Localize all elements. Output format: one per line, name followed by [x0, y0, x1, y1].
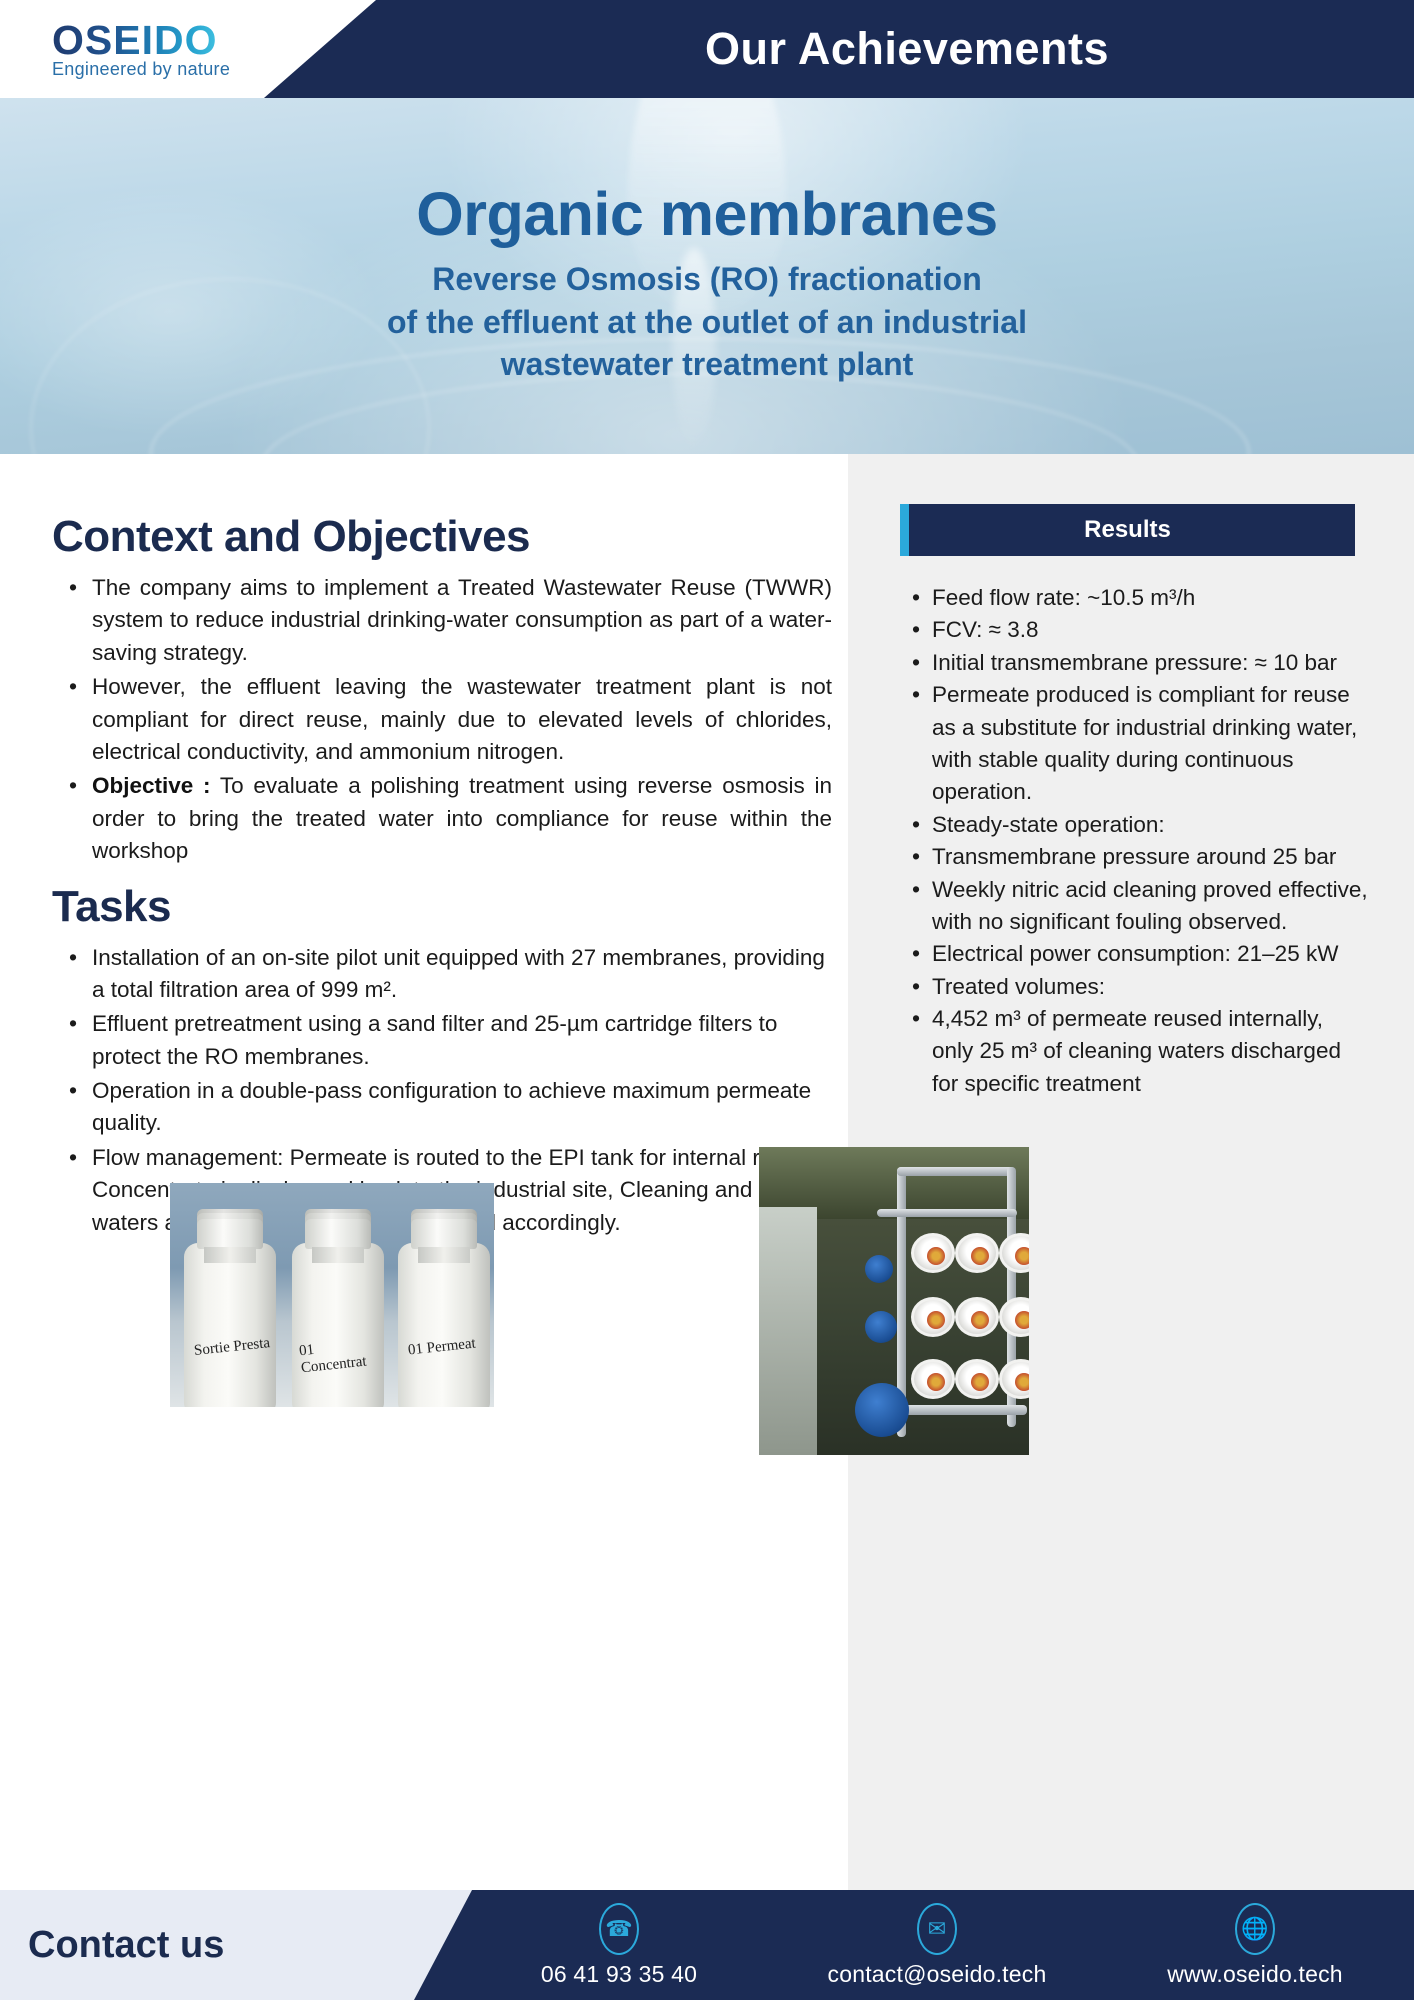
- results-accent-bar: [900, 504, 909, 556]
- membrane-vessel: [955, 1297, 999, 1337]
- contact-list: ☎ 06 41 93 35 40 ✉ contact@oseido.tech 🌐…: [460, 1890, 1414, 2000]
- contact-phone[interactable]: ☎ 06 41 93 35 40: [460, 1890, 778, 2000]
- contact-email[interactable]: ✉ contact@oseido.tech: [778, 1890, 1096, 2000]
- feed-pump: [855, 1383, 909, 1437]
- list-item: However, the effluent leaving the wastew…: [52, 671, 832, 768]
- membrane-vessel: [955, 1233, 999, 1273]
- content-area: Context and Objectives The company aims …: [0, 454, 1414, 1890]
- objective-label: Objective :: [92, 773, 211, 798]
- membrane-vessel: [999, 1233, 1029, 1273]
- membrane-vessel: [999, 1359, 1029, 1399]
- website-url: www.oseido.tech: [1167, 1961, 1343, 1988]
- membrane-vessel: [999, 1297, 1029, 1337]
- list-item: Installation of an on-site pilot unit eq…: [52, 942, 832, 1007]
- wall-decor: [759, 1207, 817, 1455]
- hero-subtitle-line-1: Reverse Osmosis (RO) fractionation: [387, 258, 1027, 301]
- bottle-neck: [418, 1247, 470, 1263]
- sample-bottles-photo: Sortie Presta 01 Concentrat 01 Permeat: [170, 1183, 494, 1407]
- context-heading: Context and Objectives: [52, 512, 832, 562]
- membrane-vessel: [955, 1359, 999, 1399]
- list-item: Operation in a double-pass configuration…: [52, 1075, 832, 1140]
- phone-icon: ☎: [599, 1903, 639, 1955]
- page-footer: Contact us ☎ 06 41 93 35 40 ✉ contact@os…: [0, 1890, 1414, 2000]
- list-item: 4,452 m³ of permeate reused internally, …: [900, 1003, 1370, 1100]
- footer-title: Contact us: [28, 1890, 224, 2000]
- email-address: contact@oseido.tech: [828, 1961, 1047, 1988]
- bottle-3: 01 Permeat: [398, 1243, 490, 1407]
- logo-wordmark: OSEIDO: [52, 20, 217, 61]
- right-column: Results Feed flow rate: ~10.5 m³/h FCV: …: [900, 454, 1370, 1100]
- hero-title: Organic membranes: [416, 182, 997, 246]
- context-bullet-list: The company aims to implement a Treated …: [52, 572, 832, 868]
- bottle-neck: [312, 1247, 364, 1263]
- list-item: Steady-state operation:: [900, 809, 1370, 841]
- results-heading: Results: [1084, 516, 1171, 544]
- bottle-1: Sortie Presta: [184, 1243, 276, 1407]
- phone-number: 06 41 93 35 40: [541, 1961, 697, 1988]
- bottle-cap: [197, 1209, 263, 1249]
- header-title: Our Achievements: [400, 0, 1414, 98]
- pipe-decor: [877, 1209, 1017, 1217]
- bottle-cap: [305, 1209, 371, 1249]
- list-item: Objective : To evaluate a polishing trea…: [52, 770, 832, 867]
- bottle-neck: [204, 1247, 256, 1263]
- list-item: Electrical power consumption: 21–25 kW: [900, 938, 1370, 970]
- bottle-label-2: 01 Concentrat: [298, 1335, 385, 1378]
- valve-actuator: [865, 1255, 893, 1283]
- bottle-label-3: 01 Permeat: [407, 1335, 476, 1359]
- valve-actuator: [865, 1311, 897, 1343]
- list-item: FCV: ≈ 3.8: [900, 614, 1370, 646]
- logo-tagline: Engineered by nature: [52, 59, 282, 80]
- page-header: OSEIDO Engineered by nature Our Achievem…: [0, 0, 1414, 98]
- membrane-vessel: [911, 1359, 955, 1399]
- left-column: Context and Objectives The company aims …: [52, 454, 832, 1241]
- hero-subtitle: Reverse Osmosis (RO) fractionation of th…: [387, 258, 1027, 386]
- tasks-heading: Tasks: [52, 882, 832, 932]
- envelope-icon: ✉: [917, 1903, 957, 1955]
- hero-subtitle-line-3: wastewater treatment plant: [387, 343, 1027, 386]
- list-item: Initial transmembrane pressure: ≈ 10 bar: [900, 647, 1370, 679]
- list-item: Permeate produced is compliant for reuse…: [900, 679, 1370, 809]
- list-item: The company aims to implement a Treated …: [52, 572, 832, 669]
- hero-banner: Organic membranes Reverse Osmosis (RO) f…: [0, 98, 1414, 454]
- ro-pilot-unit-photo: [759, 1147, 1029, 1455]
- bottle-cap: [411, 1209, 477, 1249]
- globe-icon: 🌐: [1235, 1903, 1275, 1955]
- contact-website[interactable]: 🌐 www.oseido.tech: [1096, 1890, 1414, 2000]
- membrane-vessel: [911, 1297, 955, 1337]
- membrane-vessel: [911, 1233, 955, 1273]
- list-item: Effluent pretreatment using a sand filte…: [52, 1008, 832, 1073]
- list-item: Feed flow rate: ~10.5 m³/h: [900, 582, 1370, 614]
- results-bullet-list: Feed flow rate: ~10.5 m³/h FCV: ≈ 3.8 In…: [900, 582, 1370, 1100]
- pipe-decor: [897, 1167, 1015, 1176]
- hero-subtitle-line-2: of the effluent at the outlet of an indu…: [387, 301, 1027, 344]
- list-item: Treated volumes:: [900, 971, 1370, 1003]
- company-logo[interactable]: OSEIDO Engineered by nature: [52, 20, 282, 80]
- results-header-banner: Results: [900, 504, 1355, 556]
- bottle-label-1: Sortie Presta: [193, 1335, 271, 1360]
- list-item: Transmembrane pressure around 25 bar: [900, 841, 1370, 873]
- bottle-2: 01 Concentrat: [292, 1243, 384, 1407]
- list-item: Weekly nitric acid cleaning proved effec…: [900, 874, 1370, 939]
